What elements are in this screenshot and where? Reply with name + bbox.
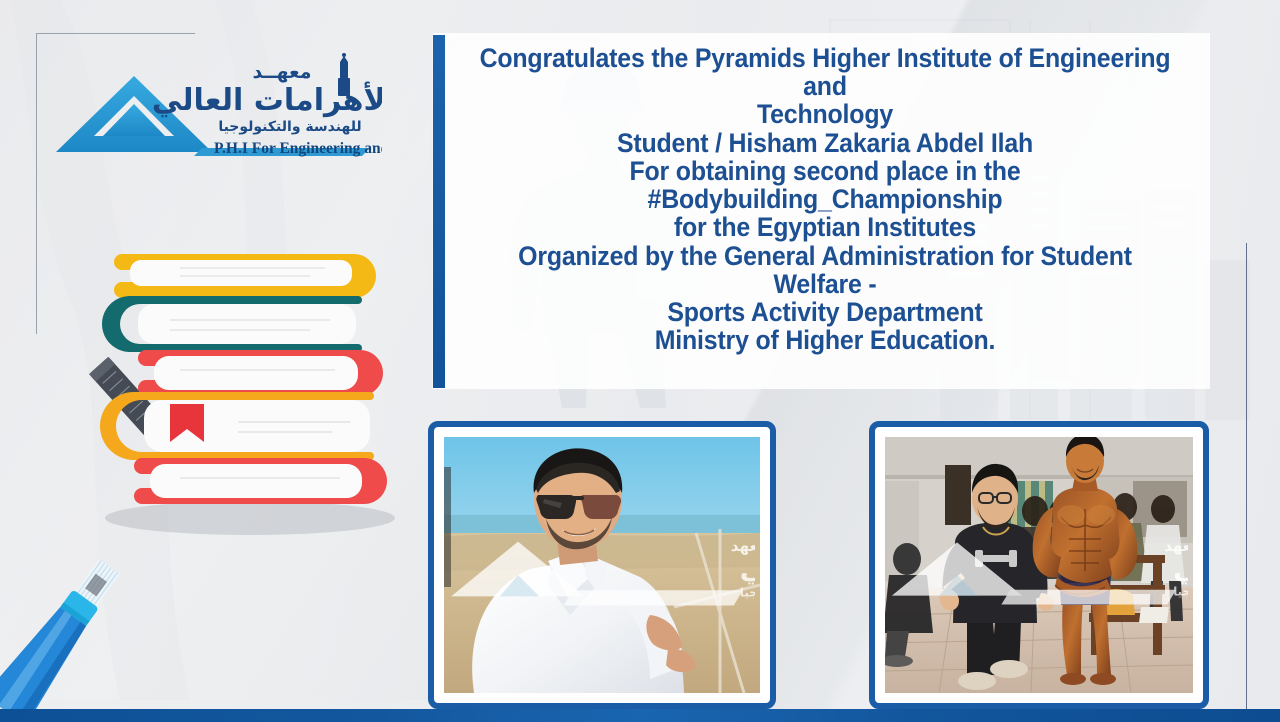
poster-canvas: معهــد الأهرامات العالي للهندسة والتكنول… — [0, 0, 1280, 722]
stacked-books-graphic — [60, 240, 440, 540]
announcement-line-5: for the Egyptian Institutes — [477, 213, 1173, 241]
student-portrait-photo[interactable]: معهد الأهرامات العالي للهندسة والتكنولوج… — [428, 421, 776, 709]
panel-accent-bar — [433, 35, 445, 388]
announcement-line-3: Student / Hisham Zakaria Abdel Ilah — [477, 129, 1173, 157]
svg-text:P.H.I For Engineering and Tech: P.H.I For Engineering and Technology — [214, 140, 382, 157]
svg-text:الأهرامات العالي: الأهرامات العالي — [1173, 552, 1188, 585]
phi-institute-logo-watermark: معهد الأهرامات العالي للهندسة والتكنولوج… — [444, 441, 755, 693]
announcement-line-6: Organized by the General Administration … — [477, 242, 1173, 298]
student-portrait-image: معهد الأهرامات العالي للهندسة والتكنولوج… — [444, 437, 760, 693]
phi-institute-logo-watermark: معهد الأهرامات العالي للهندسة والتكنولوج… — [885, 441, 1188, 693]
svg-text:معهد: معهد — [1164, 538, 1188, 555]
announcement-line-7: Sports Activity Department — [477, 298, 1173, 326]
right-rule-line — [1246, 243, 1247, 711]
svg-text:للهندسة والتكنولوجيا: للهندسة والتكنولوجيا — [1173, 585, 1188, 600]
announcement-line-4: For obtaining second place in the #Bodyb… — [477, 157, 1173, 213]
stacked-books-icon — [60, 240, 440, 540]
announcement-line-2: Technology — [477, 100, 1173, 128]
announcement-line-8: Ministry of Higher Education. — [477, 326, 1173, 354]
bottom-accent-bar — [0, 709, 1280, 722]
blue-pen-icon — [0, 556, 124, 716]
championship-image: معهد الأهرامات العالي للهندسة والتكنولوج… — [885, 437, 1193, 693]
svg-text:معهــد: معهــد — [253, 61, 312, 83]
championship-photo[interactable]: معهد الأهرامات العالي للهندسة والتكنولوج… — [869, 421, 1209, 709]
svg-text:الأهرامات العالي: الأهرامات العالي — [740, 552, 755, 585]
blue-pen-graphic — [0, 556, 124, 716]
svg-text:معهد: معهد — [731, 537, 755, 555]
institute-logo-graphic: معهــد الأهرامات العالي للهندسة والتكنول… — [52, 52, 382, 157]
announcement-line-1: Congratulates the Pyramids Higher Instit… — [477, 44, 1173, 100]
announcement-text: Congratulates the Pyramids Higher Instit… — [477, 44, 1173, 354]
svg-text:للهندسة والتكنولوجيا: للهندسة والتكنولوجيا — [740, 585, 755, 599]
svg-text:للهندسة والتكنولوجيا: للهندسة والتكنولوجيا — [218, 119, 361, 135]
institute-logo: معهــد الأهرامات العالي للهندسة والتكنول… — [52, 52, 382, 157]
